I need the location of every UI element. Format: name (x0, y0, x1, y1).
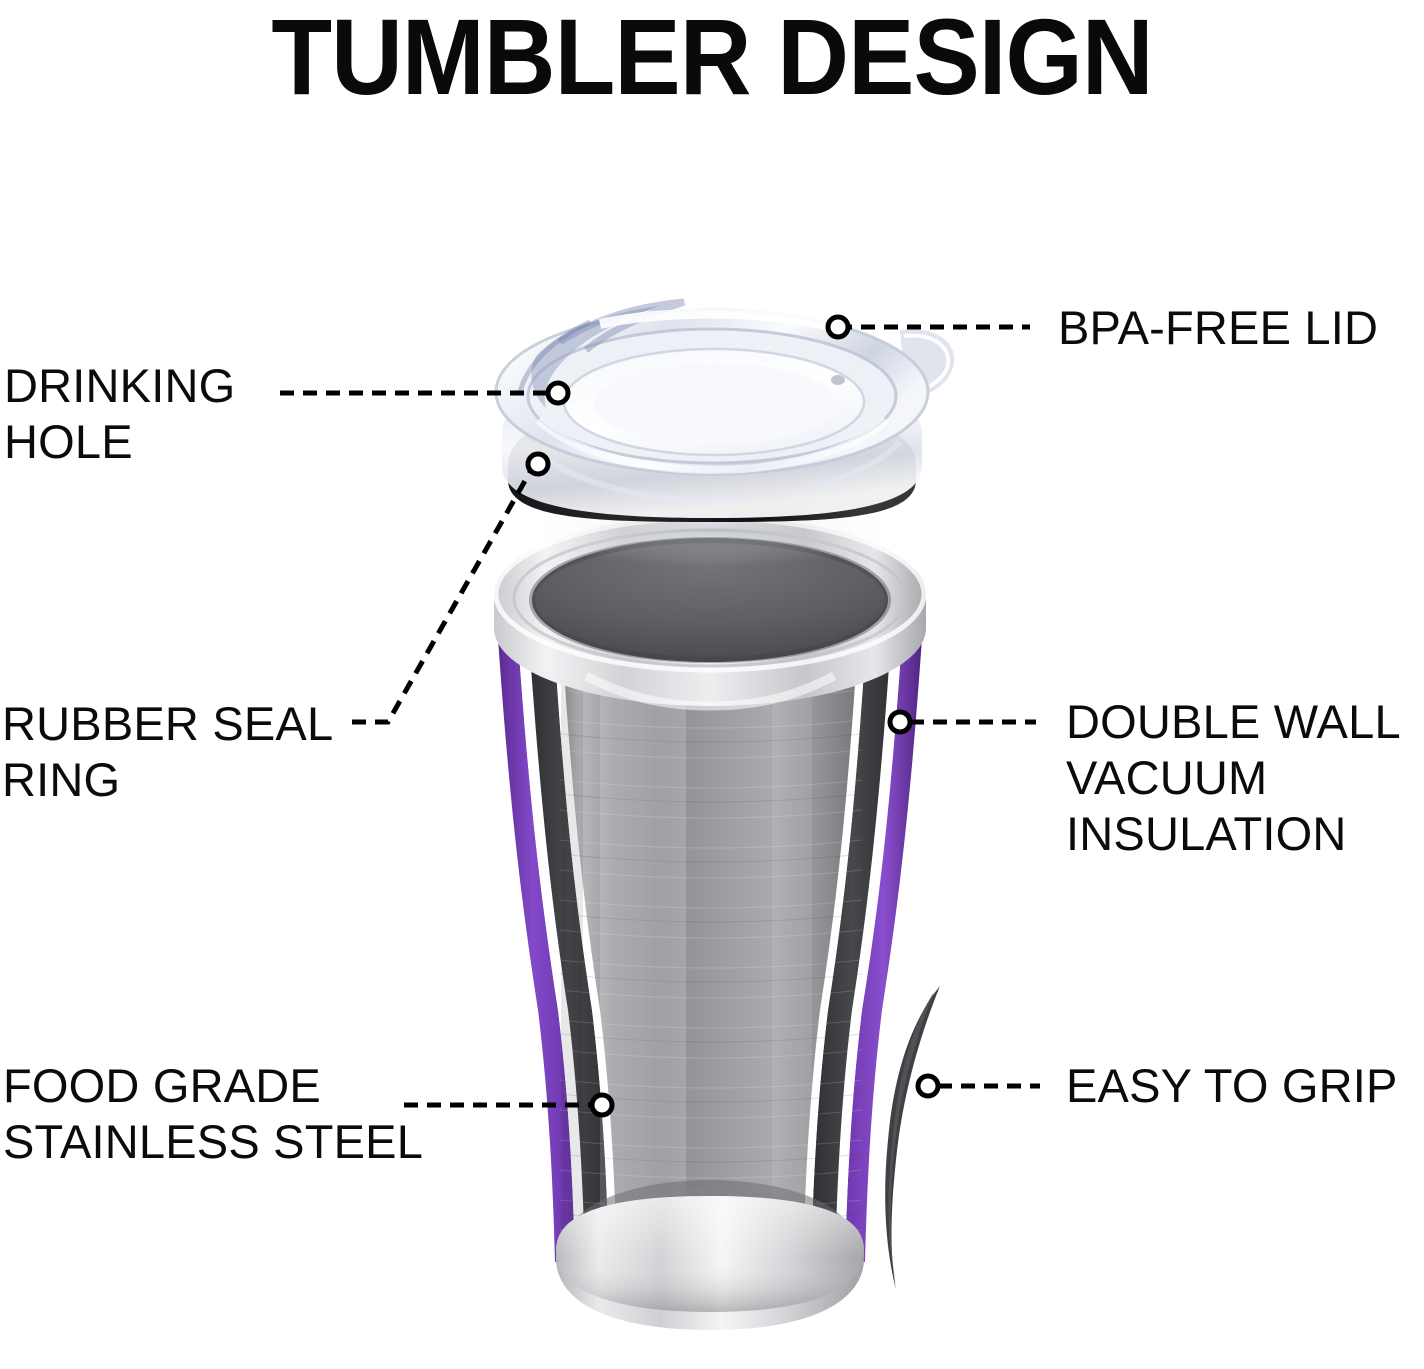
lid-center-flat (594, 363, 838, 445)
tumbler-body (494, 516, 926, 1330)
callout-label-rubber-seal-ring: RUBBER SEAL RING (2, 696, 333, 808)
callout-label-drinking-hole: DRINKING HOLE (4, 358, 235, 470)
callout-label-double-wall-vacuum-insulation: DOUBLE WALL VACUUM INSULATION (1066, 694, 1401, 862)
tumbler-design-infographic: TUMBLER DESIGN (0, 0, 1424, 1369)
lid-vent-hole (831, 375, 845, 385)
callout-label-bpa-free-lid: BPA-FREE LID (1058, 300, 1378, 356)
callout-label-easy-to-grip: EASY TO GRIP (1066, 1058, 1398, 1114)
tumbler-lid (496, 302, 954, 566)
callout-label-food-grade-stainless-steel: FOOD GRADE STAINLESS STEEL (3, 1058, 423, 1170)
